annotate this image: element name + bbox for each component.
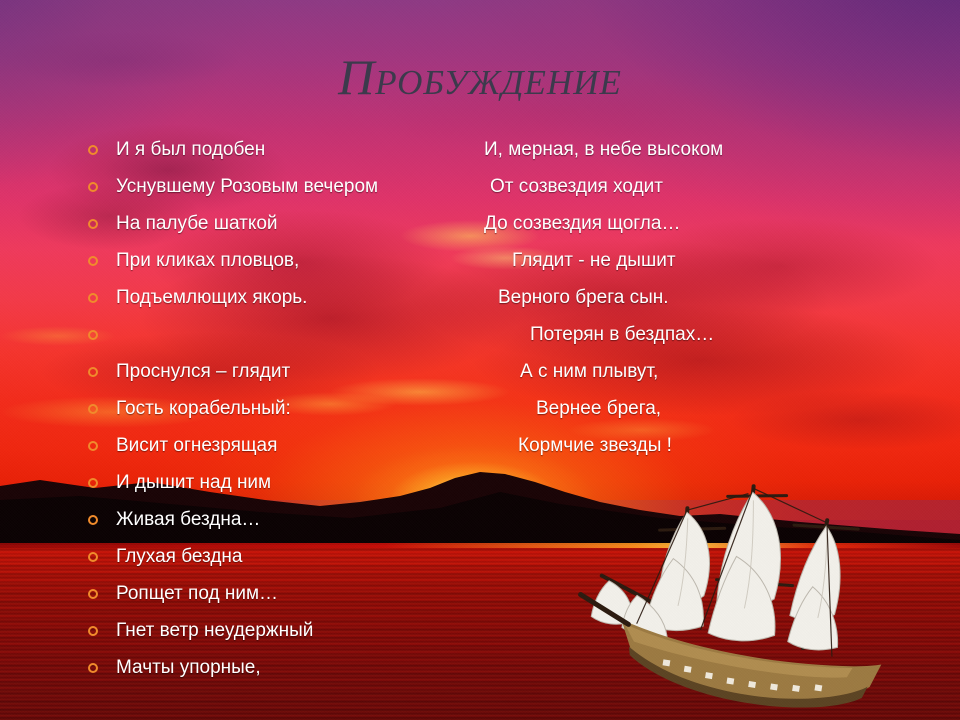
list-item: [84, 316, 444, 353]
list-item: Кормчие звезды !: [470, 427, 890, 464]
list-item: Проснулся – глядит: [84, 353, 444, 390]
list-item-label: И дышит над ним: [116, 472, 271, 493]
bullet-icon: [88, 626, 98, 636]
list-item-label: А с ним плывут,: [520, 361, 658, 382]
list-item-label: Живая бездна…: [116, 509, 260, 530]
list-item-label: Потерян в бездпах…: [530, 324, 714, 345]
list-item-label: Верного брега сын.: [498, 287, 669, 308]
slide-canvas: Пробуждение И я был подобен Уснувшему Ро…: [0, 0, 960, 720]
list-item: И я был подобен: [84, 131, 444, 168]
bullet-icon: [88, 182, 98, 192]
list-item-label: Проснулся – глядит: [116, 361, 290, 382]
list-item-label: Уснувшему Розовым вечером: [116, 176, 378, 197]
list-item: И дышит над ним: [84, 464, 444, 501]
list-item-label: Гнет ветр неудержный: [116, 620, 313, 641]
list-item: Гость корабельный:: [84, 390, 444, 427]
list-item-label: Глухая бездна: [116, 546, 243, 567]
list-item: Живая бездна…: [84, 501, 444, 538]
list-item: Мачты упорные,: [84, 649, 444, 686]
page-title: Пробуждение: [0, 50, 960, 105]
list-item: Потерян в бездпах…: [470, 316, 890, 353]
list-item-label: На палубе шаткой: [116, 213, 278, 234]
list-item: Висит огнезрящая: [84, 427, 444, 464]
list-item: Верного брега сын.: [470, 279, 890, 316]
list-item-label: Подъемлющих якорь.: [116, 287, 307, 308]
list-item-label: Вернее брега,: [536, 398, 661, 419]
bullet-icon: [88, 404, 98, 414]
list-item-label: При кликах пловцов,: [116, 250, 299, 271]
bullet-icon: [88, 478, 98, 488]
list-item-label: От созвездия ходит: [490, 176, 663, 197]
list-item-label: Висит огнезрящая: [116, 435, 277, 456]
bullet-icon: [88, 515, 98, 525]
poem-left-column: И я был подобен Уснувшему Розовым вечеро…: [84, 131, 444, 686]
list-item: Ропщет под ним…: [84, 575, 444, 612]
list-item: Вернее брега,: [470, 390, 890, 427]
list-item: Уснувшему Розовым вечером: [84, 168, 444, 205]
bullet-icon: [88, 663, 98, 673]
bullet-icon: [88, 145, 98, 155]
list-item: Глухая бездна: [84, 538, 444, 575]
bullet-icon: [88, 293, 98, 303]
bullet-icon: [88, 589, 98, 599]
bullet-icon: [88, 256, 98, 266]
list-item: Подъемлющих якорь.: [84, 279, 444, 316]
poem-right-column: И, мерная, в небе высоком От созвездия х…: [470, 131, 890, 464]
list-item: И, мерная, в небе высоком: [470, 131, 890, 168]
list-item: При кликах пловцов,: [84, 242, 444, 279]
bullet-icon: [88, 441, 98, 451]
bullet-icon: [88, 219, 98, 229]
list-item: Глядит - не дышит: [470, 242, 890, 279]
bullet-icon: [88, 367, 98, 377]
list-item: Гнет ветр неудержный: [84, 612, 444, 649]
sailing-ship: [560, 455, 960, 720]
list-item-label: Глядит - не дышит: [512, 250, 676, 271]
bullet-icon: [88, 552, 98, 562]
list-item-label: Мачты упорные,: [116, 657, 261, 678]
list-item-label: И я был подобен: [116, 139, 265, 160]
list-item-label: Гость корабельный:: [116, 398, 291, 419]
list-item-label: Кормчие звезды !: [518, 435, 672, 456]
list-item-label: И, мерная, в небе высоком: [484, 139, 723, 160]
bullet-icon: [88, 330, 98, 340]
list-item: До созвездия щогла…: [470, 205, 890, 242]
list-item-label: До созвездия щогла…: [484, 213, 680, 234]
list-item-label: Ропщет под ним…: [116, 583, 278, 604]
list-item: А с ним плывут,: [470, 353, 890, 390]
list-item: На палубе шаткой: [84, 205, 444, 242]
list-item: От созвездия ходит: [470, 168, 890, 205]
